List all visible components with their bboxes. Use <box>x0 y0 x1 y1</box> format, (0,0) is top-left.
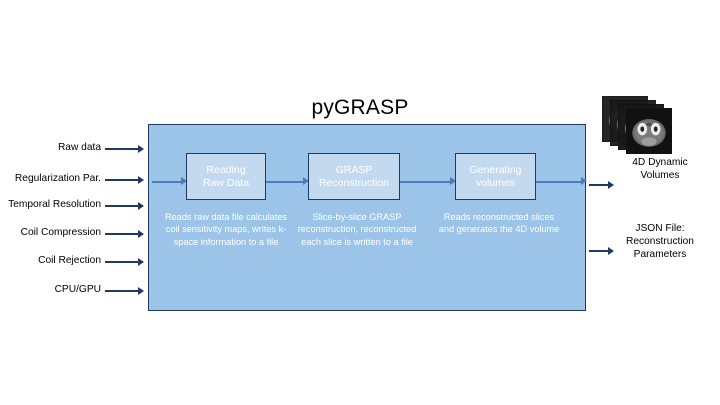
input-row-raw-data: Raw data <box>0 142 148 156</box>
input-label-coil-rejection: Coil Rejection <box>38 255 101 266</box>
input-label-coil-compression: Coil Compression <box>21 227 101 238</box>
flow-arrow-input-to-stage1 <box>152 177 188 186</box>
stage-title-line1: Generating <box>470 164 522 176</box>
input-label-regularization-par: Regularization Par. <box>15 173 101 184</box>
input-arrow-raw-data <box>105 144 145 154</box>
stage-title-line2: Reconstruction <box>319 177 389 189</box>
flow-arrow-stage1-to-stage2 <box>266 177 310 186</box>
stage-box-generating-volumes[interactable]: Generating volumes <box>455 153 536 200</box>
stage-box-label: Generating volumes <box>470 164 522 190</box>
stage-title-line1: Reading <box>206 164 245 176</box>
output-label-4d-dynamic-volumes: 4D Dynamic Volumes <box>612 156 708 182</box>
output-label-json-file: JSON File: Reconstruction Parameters <box>608 222 712 262</box>
stage-box-reading-raw-data[interactable]: Reading Raw Data <box>186 153 266 200</box>
stage-description-reading-raw-data: Reads raw data file calculates coil sens… <box>163 211 289 248</box>
stage-title-line2: volumes <box>476 177 515 189</box>
input-arrow-temporal-resolution <box>105 201 145 211</box>
stage-box-grasp-reconstruction[interactable]: GRASP Reconstruction <box>308 153 400 200</box>
mri-slice-stack-icon <box>602 96 674 156</box>
page-title: pyGRASP <box>270 96 450 120</box>
stage-title-line1: GRASP <box>336 164 373 176</box>
input-arrow-regularization-par <box>105 175 145 185</box>
input-label-cpu-gpu: CPU/GPU <box>55 284 101 295</box>
stage-description-generating-volumes: Reads reconstructed slices and generates… <box>435 211 563 236</box>
flow-arrow-stage3-to-output <box>536 177 588 186</box>
stage-box-label: Reading Raw Data <box>203 164 249 190</box>
input-row-regularization-par: Regularization Par. <box>0 173 148 187</box>
input-arrow-cpu-gpu <box>105 286 145 296</box>
input-label-raw-data: Raw data <box>58 142 101 153</box>
input-row-coil-compression: Coil Compression <box>0 227 148 241</box>
stage-description-grasp-reconstruction: Slice-by-slice GRASP reconstruction, rec… <box>296 211 418 248</box>
input-row-temporal-resolution: Temporal Resolution <box>0 199 148 213</box>
input-arrow-coil-rejection <box>105 257 145 267</box>
input-row-coil-rejection: Coil Rejection <box>0 255 148 269</box>
mri-slice-front <box>626 108 672 154</box>
stage-box-label: GRASP Reconstruction <box>319 164 389 190</box>
input-arrow-coil-compression <box>105 229 145 239</box>
flow-arrow-stage2-to-stage3 <box>400 177 457 186</box>
stage-title-line2: Raw Data <box>203 177 249 189</box>
input-label-temporal-resolution: Temporal Resolution <box>8 199 101 210</box>
diagram-canvas: pyGRASP Raw data Regularization Par. Tem… <box>0 0 720 405</box>
input-row-cpu-gpu: CPU/GPU <box>0 284 148 298</box>
